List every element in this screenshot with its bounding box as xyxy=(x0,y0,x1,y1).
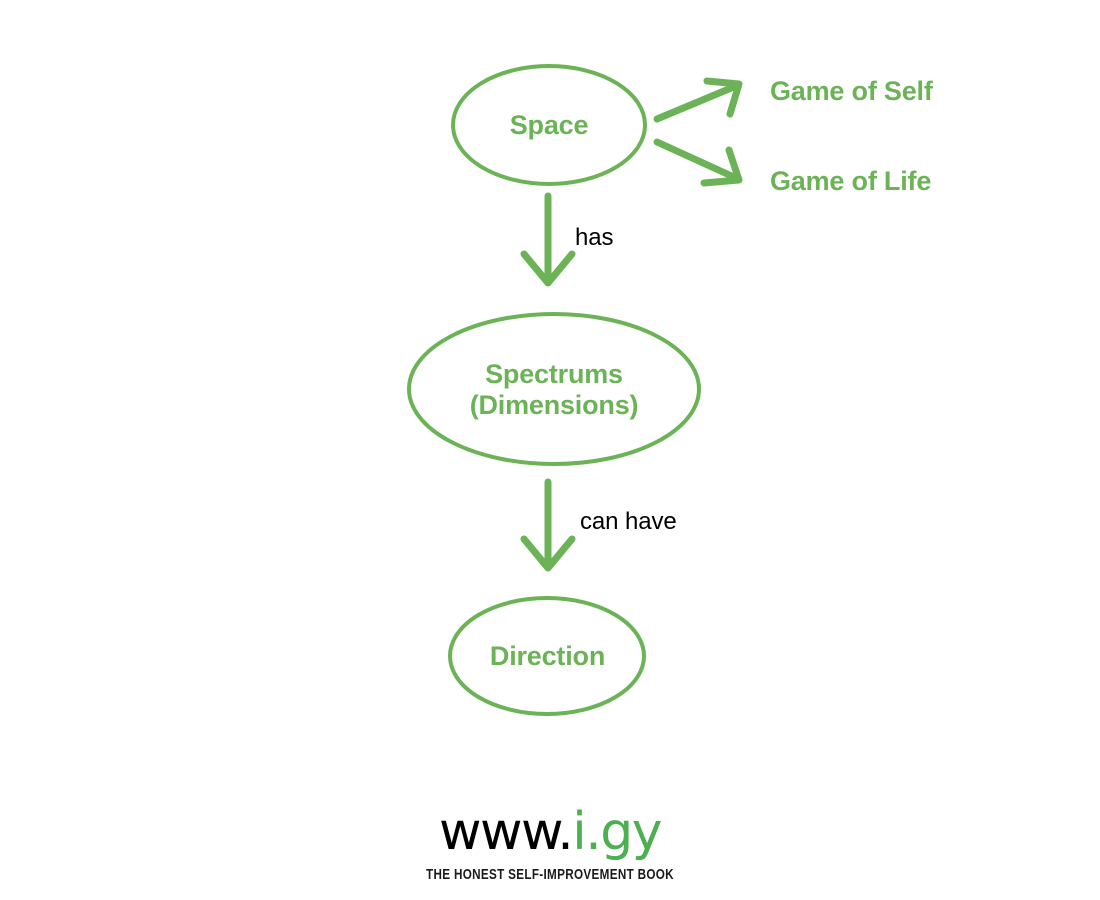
node-direction-ellipse[interactable] xyxy=(450,598,644,714)
node-space-ellipse[interactable] xyxy=(453,66,645,184)
edge-space-to-spectrums-arrow xyxy=(524,196,572,283)
edge-spectrums-to-direction-arrow xyxy=(524,482,572,568)
diagram-canvas xyxy=(0,0,1100,900)
edge-label-can-have: can have xyxy=(580,508,677,536)
edge-label-has: has xyxy=(575,224,613,252)
footer: www.i.gy THE HONEST SELF-IMPROVEMENT BOO… xyxy=(0,806,1100,883)
logo-prefix-text: www. xyxy=(439,802,572,862)
edge-space-to-game-of-life-arrow xyxy=(657,142,739,183)
branch-label-game-of-life[interactable]: Game of Life xyxy=(770,166,931,197)
edge-space-to-game-of-self-arrow xyxy=(657,81,739,119)
footer-tagline: THE HONEST SELF-IMPROVEMENT BOOK xyxy=(121,866,979,883)
logo-accent-text: i.gy xyxy=(572,802,661,862)
branch-label-game-of-self[interactable]: Game of Self xyxy=(770,76,933,107)
node-spectrums-ellipse[interactable] xyxy=(409,314,699,464)
site-logo[interactable]: www.i.gy xyxy=(0,806,1100,858)
